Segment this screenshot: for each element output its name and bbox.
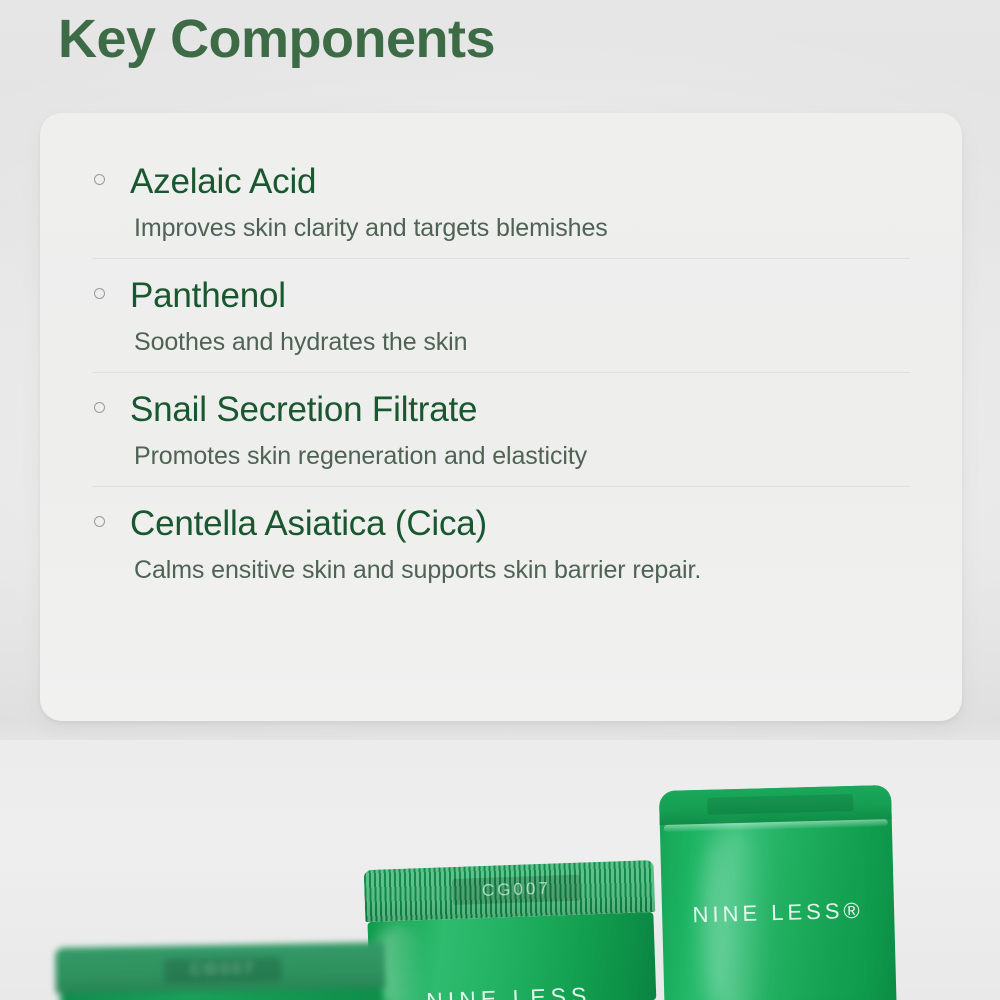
page-root: Key Components Azelaic Acid Improves ski… [0, 0, 1000, 1000]
components-list: Azelaic Acid Improves skin clarity and t… [92, 113, 910, 600]
list-item[interactable]: Panthenol Soothes and hydrates the skin [92, 258, 910, 372]
hollow-circle-bullet-icon [94, 174, 105, 185]
hollow-circle-bullet-icon [94, 516, 105, 527]
component-name: Centella Asiatica (Cica) [130, 503, 910, 546]
component-name: Snail Secretion Filtrate [130, 389, 910, 432]
component-description: Calms ensitive skin and supports skin ba… [134, 555, 910, 586]
hollow-circle-bullet-icon [94, 402, 105, 413]
key-components-card: Azelaic Acid Improves skin clarity and t… [40, 113, 962, 721]
tube-cap-code: CG007 [452, 875, 581, 905]
product-photo: NINE LESS® CG007 NINE LESS CG007 [0, 740, 1000, 1000]
tube-cap-code: CG007 [164, 957, 282, 983]
component-name: Azelaic Acid [130, 161, 910, 204]
product-tube-left: CG007 [55, 942, 386, 1000]
component-description: Soothes and hydrates the skin [134, 327, 910, 358]
list-item[interactable]: Centella Asiatica (Cica) Calms ensitive … [92, 486, 910, 600]
product-tube-middle: CG007 NINE LESS [364, 860, 659, 1000]
component-description: Promotes skin regeneration and elasticit… [134, 441, 910, 472]
component-name: Panthenol [130, 275, 910, 318]
page-title: Key Components [58, 6, 495, 74]
component-description: Improves skin clarity and targets blemis… [134, 213, 910, 244]
product-tube-right: NINE LESS® [659, 785, 897, 1000]
list-item[interactable]: Azelaic Acid Improves skin clarity and t… [92, 145, 910, 258]
hollow-circle-bullet-icon [94, 288, 105, 299]
list-item[interactable]: Snail Secretion Filtrate Promotes skin r… [92, 372, 910, 486]
